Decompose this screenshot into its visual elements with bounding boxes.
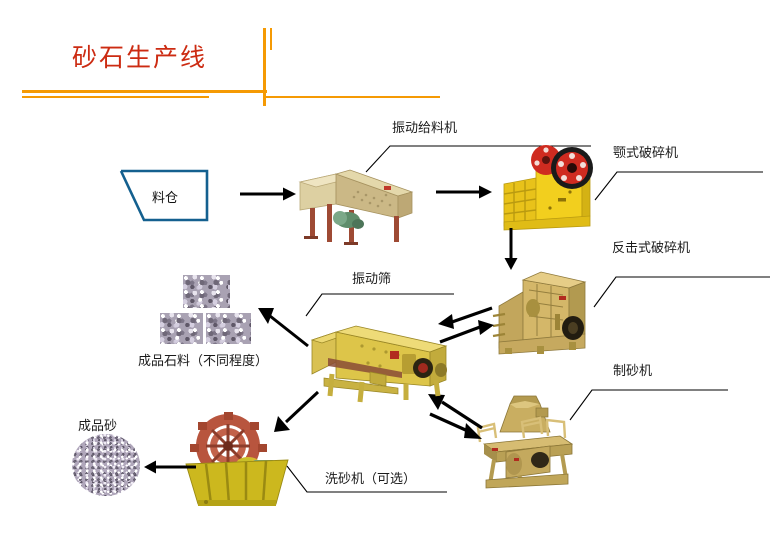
- impact-crusher-label: 反击式破碎机: [612, 237, 690, 256]
- arrow-hopper-to-feeder: [240, 186, 296, 202]
- title-rule-vertical-short: [270, 28, 272, 50]
- finished-stone-swatch-right: [206, 313, 251, 344]
- sand-washer-machine: [180, 412, 298, 508]
- sand-making-machine: [470, 392, 582, 488]
- title-rule-vertical-long: [263, 28, 266, 106]
- vibrating-feeder-label: 振动给料机: [392, 117, 457, 136]
- vibrating-screen-machine: [310, 318, 458, 404]
- flowchart-canvas: 砂石生产线 料仓: [0, 0, 777, 540]
- sand-making-machine-label: 制砂机: [613, 360, 652, 379]
- vibrating-screen-leader-line: [306, 286, 456, 318]
- arrow-screen-to-finished-stone: [258, 306, 312, 350]
- jaw-crusher-leader-line: [595, 160, 765, 202]
- title-rule-horizontal-thin-right: [265, 96, 440, 98]
- finished-stone-label: 成品石料（不同程度）: [138, 350, 268, 369]
- impact-crusher-leader-line: [594, 265, 772, 309]
- sand-washer-label: 洗砂机（可选）: [325, 468, 416, 487]
- arrow-washer-to-finished-sand: [144, 459, 196, 475]
- page-title: 砂石生产线: [72, 38, 207, 74]
- arrow-feeder-to-jaw-crusher: [436, 184, 492, 200]
- jaw-crusher-machine: [498, 140, 610, 232]
- title-rule-horizontal-thin-left: [22, 96, 209, 98]
- jaw-crusher-label: 颚式破碎机: [613, 142, 678, 161]
- finished-stone-swatch-left: [160, 313, 203, 344]
- sand-making-machine-leader-line: [570, 378, 730, 422]
- title-rule-horizontal-thick: [22, 90, 267, 93]
- finished-sand-label: 成品砂: [78, 415, 117, 434]
- finished-stone-swatch-top: [183, 275, 230, 308]
- hopper-label: 料仓: [152, 187, 178, 206]
- vibrating-screen-label: 振动筛: [352, 268, 391, 287]
- finished-sand-pile: [72, 434, 140, 496]
- arrow-jaw-to-impact-crusher: [503, 228, 519, 270]
- impact-crusher-machine: [493, 268, 597, 356]
